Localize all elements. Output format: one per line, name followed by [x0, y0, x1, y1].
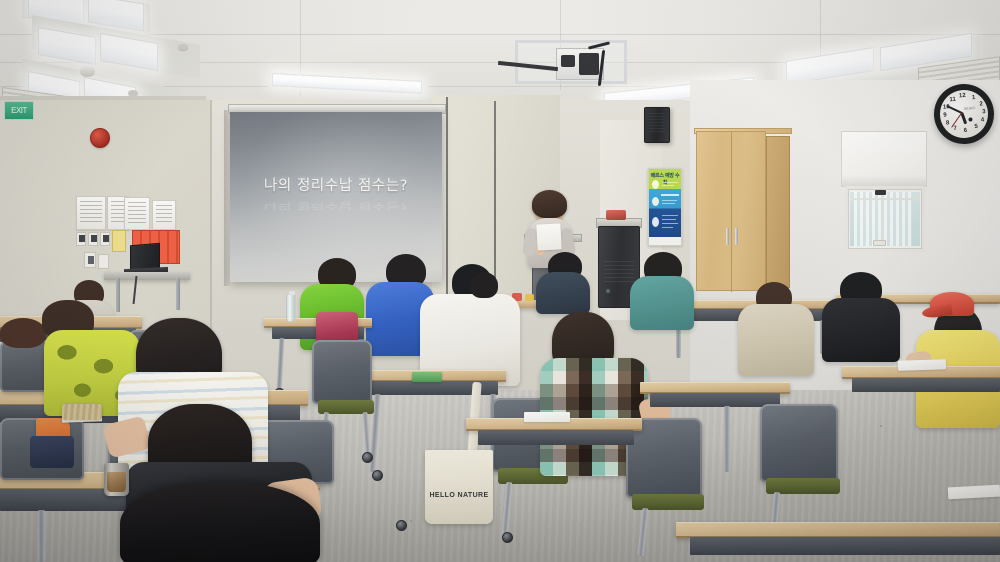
clock-hour-hand — [961, 112, 968, 124]
navy-bag[interactable] — [30, 436, 74, 468]
fire-alarm-bell-icon[interactable] — [90, 128, 110, 148]
attendee-body — [738, 304, 814, 376]
poster-illustration — [652, 217, 659, 227]
desk-leg — [38, 510, 45, 562]
cabinet-indicator-icon — [606, 289, 610, 293]
poster-illustration — [652, 180, 659, 189]
attendee-head — [0, 318, 46, 348]
mers-prevention-poster: 메르스 예방 수칙 — [648, 168, 682, 246]
posted-notice — [152, 200, 176, 230]
water-bottle[interactable] — [286, 294, 296, 322]
woven-pouch[interactable] — [62, 404, 102, 420]
tumbler-contents — [107, 472, 126, 492]
presenter-handout[interactable] — [536, 223, 561, 250]
chair-caster — [502, 532, 513, 543]
desk-apron — [690, 537, 1000, 555]
poster-footer — [649, 237, 681, 245]
switch-button[interactable] — [103, 235, 109, 242]
attendee-body — [536, 272, 590, 314]
chair-backrest[interactable] — [760, 404, 838, 482]
desk-leg — [724, 406, 730, 472]
table-leg — [176, 278, 180, 310]
switch-button[interactable] — [88, 256, 94, 264]
desk-caster — [396, 520, 407, 531]
roller-blind[interactable] — [841, 131, 927, 187]
switch-button[interactable] — [79, 235, 85, 242]
wall-speaker — [644, 107, 670, 143]
clock-face: 12 1 2 3 4 5 6 7 8 9 10 11 SEIKO — [938, 88, 990, 140]
handout-paper[interactable] — [524, 412, 570, 422]
desk-caster — [372, 470, 383, 481]
cabinet-side-panel — [766, 136, 790, 288]
tote-bag-text: HELLO NATURE — [425, 492, 493, 499]
ceiling-speaker-dome-icon — [80, 66, 95, 77]
poster-illustration — [652, 197, 659, 206]
chair-backrest[interactable] — [312, 340, 372, 404]
projector-lens-icon — [561, 55, 575, 67]
snack-item — [525, 294, 534, 301]
tumbler[interactable] — [104, 463, 129, 496]
cabinet-handle[interactable] — [735, 228, 738, 245]
slide-title-text: 나의 정리수납 점수는? — [230, 174, 442, 195]
light-switch-plate[interactable] — [76, 232, 86, 246]
attendee-hair — [120, 482, 320, 562]
clock-center-pin — [968, 117, 972, 121]
exit-sign-label: EXIT — [5, 102, 33, 119]
window-mullion — [850, 198, 920, 200]
desk-apron — [852, 378, 1000, 392]
cabinet-vent — [604, 261, 634, 283]
classroom-photo: EXIT 나의 정리수납 점수는? 나의 정리수납 점수는? 메르스 예방 수칙 — [0, 0, 1000, 562]
window-mullion — [882, 192, 884, 246]
tote-bag[interactable]: HELLO NATURE — [425, 450, 493, 524]
clock-numeral: 6 — [961, 127, 970, 136]
cabinet-handle[interactable] — [726, 228, 729, 245]
storage-cabinet[interactable] — [696, 131, 766, 291]
clock-numeral: 12 — [958, 92, 967, 101]
posted-notice — [76, 196, 106, 230]
window-handle-icon[interactable] — [875, 190, 886, 195]
smoke-detector-icon — [178, 44, 188, 50]
window-glass — [850, 192, 920, 246]
light-switch-plate[interactable] — [88, 232, 98, 246]
chair-caster — [362, 452, 373, 463]
partition-seam — [446, 97, 448, 305]
window-latch-icon[interactable] — [873, 240, 886, 246]
desk-apron — [478, 430, 634, 445]
light-switch-plate[interactable] — [84, 252, 96, 268]
cabinet-door-seam — [731, 132, 732, 292]
clock-numeral: 11 — [948, 96, 957, 105]
clock-numeral: 5 — [972, 123, 981, 132]
projector — [556, 48, 604, 80]
training-desk — [676, 522, 1000, 538]
presenter-hair — [532, 190, 567, 218]
table-leg — [116, 278, 120, 312]
green-notebook[interactable] — [412, 372, 442, 382]
bottle-cap — [289, 291, 295, 295]
attendee-head — [470, 272, 498, 298]
handout-paper[interactable] — [898, 359, 946, 371]
slide-title-reflection: 나의 정리수납 점수는? — [230, 200, 442, 213]
attendee-body — [822, 298, 900, 362]
desk-apron — [650, 393, 780, 407]
exit-sign: EXIT — [4, 101, 34, 120]
partition-seam — [494, 101, 496, 303]
light-switch-plate[interactable] — [100, 232, 110, 246]
desk-clutter — [606, 210, 626, 220]
yellow-notice — [112, 230, 126, 252]
switch-button[interactable] — [91, 235, 97, 242]
outlet-plate[interactable] — [98, 254, 109, 269]
attendee-body — [630, 276, 694, 330]
projector-panel — [579, 53, 599, 75]
posted-notice — [124, 197, 150, 230]
clock-numeral: 9 — [941, 111, 950, 120]
